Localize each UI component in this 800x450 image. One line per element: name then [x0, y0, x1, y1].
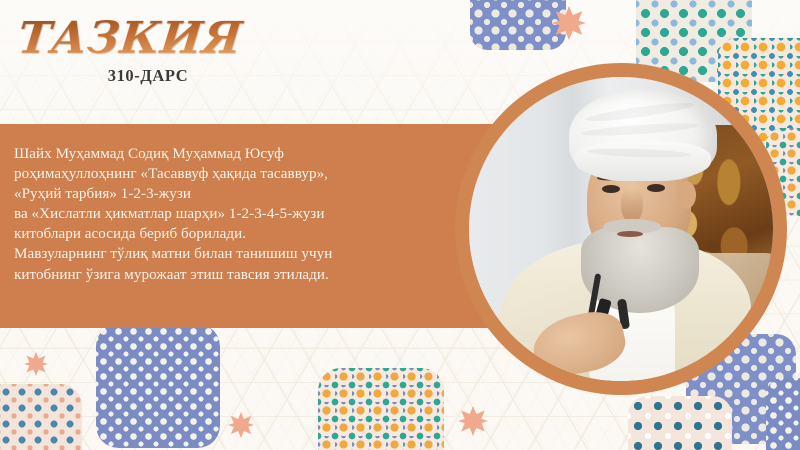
tile-top-mid-blue — [470, 0, 566, 50]
portrait-photo — [469, 77, 773, 381]
description-line: Шайх Муҳаммад Содиқ Муҳаммад Юсуф — [14, 144, 484, 164]
description-line: ва «Хислатли ҳикматлар шарҳи» 1-2-3-4-5-… — [14, 204, 484, 224]
description-line: китоблари асосида бериб борилади. — [14, 224, 484, 244]
mouth-shape — [617, 231, 643, 237]
tile-bottom-left-cream — [0, 384, 82, 450]
tile-bottom-mid-orange — [318, 368, 444, 450]
nose-shape — [621, 189, 643, 223]
poster-canvas: Шайх Муҳаммад Содиқ Муҳаммад Юсуфроҳимаҳ… — [0, 0, 800, 450]
portrait-circle-frame — [455, 63, 787, 395]
description-line: китобнинг ўзига мурожаат этиш тавсия эти… — [14, 265, 484, 285]
page-title: ТАЗКИЯ — [0, 16, 262, 62]
portrait-image-content — [469, 77, 773, 381]
tile-bottom-left-blue — [96, 324, 220, 448]
description-line: Мавзуларнинг тўлиқ матни билан танишиш у… — [14, 244, 484, 264]
title-block: ТАЗКИЯ 310-ДАРС — [0, 16, 260, 86]
description-line: роҳимаҳуллоҳнинг «Тасаввуф ҳақида тасавв… — [14, 164, 484, 184]
eye-left — [602, 185, 620, 193]
ear-shape — [677, 181, 696, 209]
description-text: Шайх Муҳаммад Содиқ Муҳаммад Юсуфроҳимаҳ… — [14, 144, 484, 285]
eye-right — [647, 184, 665, 192]
tile-bottom-far-right — [766, 378, 800, 450]
lesson-subtitle: 310-ДАРС — [0, 66, 260, 86]
description-line: «Руҳий тарбия» 1-2-3-жузи — [14, 184, 484, 204]
tile-bottom-right-cream — [628, 396, 732, 450]
turban-base — [575, 141, 711, 181]
